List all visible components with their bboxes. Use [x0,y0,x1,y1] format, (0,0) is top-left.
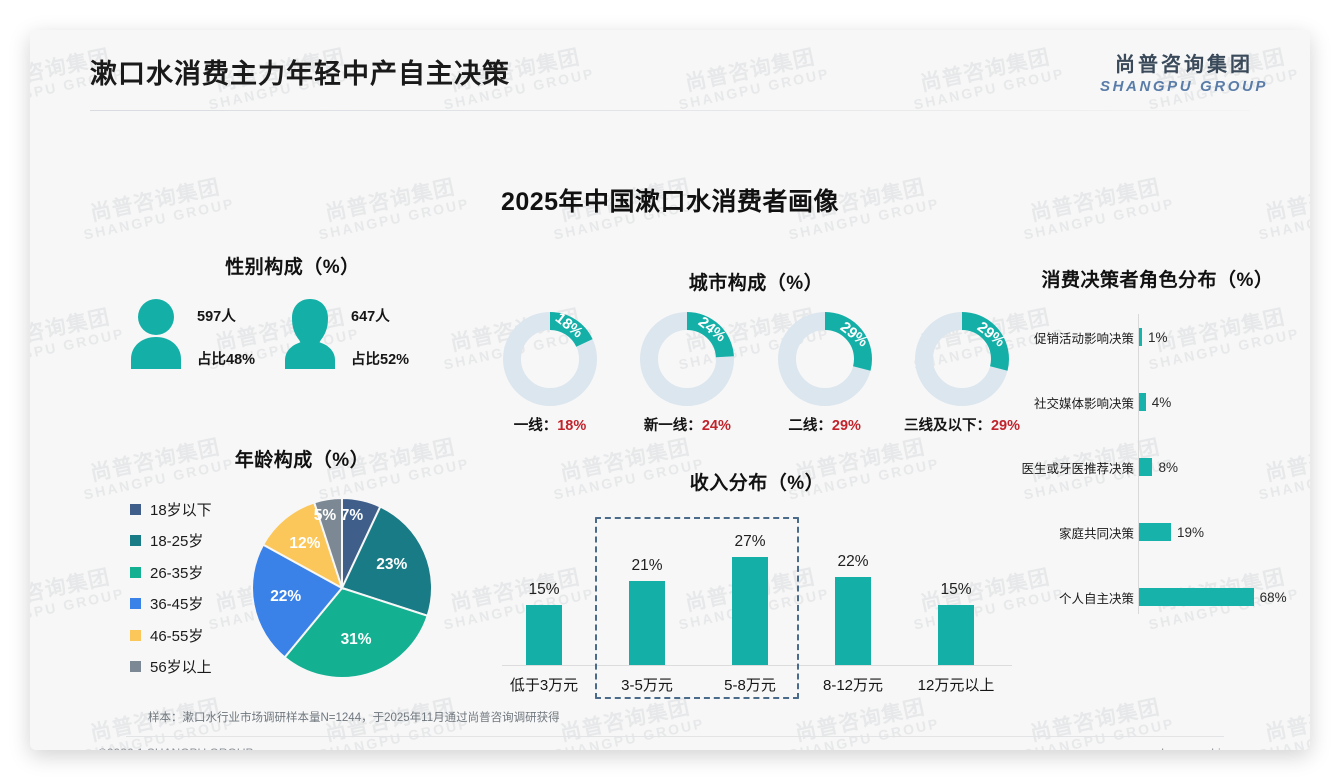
pie-value-label: 22% [270,588,301,606]
slide-canvas: 尚普咨询集团SHANGPU GROUP尚普咨询集团SHANGPU GROUP尚普… [30,30,1310,750]
watermark: 尚普咨询集团SHANGPU GROUP [1018,694,1176,750]
income-category-label: 3-5万元 [599,674,695,695]
income-bar-column: 22%8-12万元 [805,505,901,705]
source-footnote: 样本：漱口水行业市场调研样本量N=1244，于2025年11月通过尚普咨询调研获… [148,709,560,725]
city-section-title: 城市构成（%） [482,268,1030,295]
city-donut-3: 29%二线：29% [761,311,889,435]
age-legend-item: 46-55岁 [130,625,248,646]
female-icon [281,297,339,369]
legend-label: 36-45岁 [150,593,203,614]
male-share: 占比48% [197,348,255,369]
pie-value-label: 31% [341,631,372,649]
role-value-label: 1% [1148,330,1168,345]
role-value-label: 19% [1177,525,1204,540]
role-bar [1139,328,1142,346]
role-bar-row: 促销活动影响决策1% [1020,326,1295,348]
age-legend: 18岁以下18-25岁26-35岁36-45岁46-55岁56岁以上 [112,488,248,688]
role-bar-row: 个人自主决策68% [1020,586,1295,608]
income-category-label: 12万元以上 [908,674,1004,695]
legend-swatch [130,535,141,546]
chart-board-subtitle: 2025年中国漱口水消费者画像 [30,182,1310,218]
decision-role-section: 消费决策者角色分布（%） 促销活动影响决策1%社交媒体影响决策4%医生或牙医推荐… [1020,265,1295,614]
role-bar [1139,458,1152,476]
legend-label: 18岁以下 [150,499,212,520]
income-value-label: 27% [702,533,798,551]
role-category-label: 个人自主决策 [1020,588,1134,607]
footer-website[interactable]: www.shangpu-china.com [1127,746,1260,750]
income-bar-column: 15%12万元以上 [908,505,1004,705]
legend-swatch [130,567,141,578]
role-category-label: 家庭共同决策 [1020,523,1134,542]
legend-label: 56岁以上 [150,656,212,677]
watermark: 尚普咨询集团SHANGPU GROUP [1253,694,1310,750]
income-category-label: 5-8万元 [702,674,798,695]
donut-graphic: 29% [777,311,873,407]
legend-swatch [130,630,141,641]
donut-caption: 一线：18% [486,414,614,435]
gender-section-title: 性别构成（%） [105,252,480,279]
female-share: 占比52% [351,348,409,369]
age-legend-item: 26-35岁 [130,562,248,583]
income-category-label: 8-12万元 [805,674,901,695]
age-composition-section: 年龄构成（%） 18岁以下18-25岁26-35岁36-45岁46-55岁56岁… [112,445,492,688]
legend-swatch [130,504,141,515]
age-legend-item: 18-25岁 [130,530,248,551]
roles-bar-chart: 促销活动影响决策1%社交媒体影响决策4%医生或牙医推荐决策8%家庭共同决策19%… [1020,314,1295,614]
age-legend-item: 56岁以上 [130,656,248,677]
income-bar-column: 15%低于3万元 [496,505,592,705]
pie-value-label: 5% [314,507,336,525]
income-bar-column: 27%5-8万元 [702,505,798,705]
role-category-label: 医生或牙医推荐决策 [1020,458,1134,477]
pie-value-label: 23% [376,556,407,574]
role-bar [1139,588,1254,606]
male-count: 597人 [197,305,255,326]
gender-composition-section: 性别构成（%） 597人 占比48% 647人 占比5 [105,252,480,369]
pie-value-label: 7% [341,507,363,525]
legend-label: 18-25岁 [150,530,203,551]
donut-caption: 三线及以下：29% [898,414,1026,435]
footer-copyright: ©2026.1 SHANGPU GROUP [98,746,254,750]
income-bar [526,605,562,665]
income-bar [938,605,974,665]
income-bar [732,557,768,665]
gender-item-female: 647人 占比52% [281,297,409,369]
age-legend-item: 18岁以下 [130,499,248,520]
donut-caption: 新一线：24% [623,414,751,435]
role-bar [1139,523,1171,541]
age-pie-chart: 7%23%31%22%12%5% [248,494,436,682]
legend-label: 26-35岁 [150,562,203,583]
role-category-label: 促销活动影响决策 [1020,328,1134,347]
income-section-title: 收入分布（%） [492,468,1022,495]
role-value-label: 68% [1260,590,1287,605]
income-value-label: 22% [805,553,901,571]
header-divider [90,110,1250,111]
age-legend-item: 36-45岁 [130,593,248,614]
role-bar [1139,393,1146,411]
page-title: 漱口水消费主力年轻中产自主决策 [90,52,510,91]
brand-logo: 尚普咨询集团 SHANGPU GROUP [1100,48,1268,95]
legend-label: 46-55岁 [150,625,203,646]
legend-swatch [130,661,141,672]
role-bar-row: 社交媒体影响决策4% [1020,391,1295,413]
pie-value-label: 12% [289,535,320,553]
female-count: 647人 [351,305,409,326]
gender-item-male: 597人 占比48% [127,297,255,369]
income-value-label: 21% [599,557,695,575]
donut-graphic: 29% [914,311,1010,407]
role-category-label: 社交媒体影响决策 [1020,393,1134,412]
income-category-label: 低于3万元 [496,674,592,695]
income-bar [835,577,871,665]
footer-divider [126,736,1224,737]
role-bar-row: 医生或牙医推荐决策8% [1020,456,1295,478]
city-donut-1: 18%一线：18% [486,311,614,435]
logo-english-text: SHANGPU GROUP [1100,78,1268,95]
role-value-label: 8% [1158,460,1178,475]
donut-graphic: 24% [639,311,735,407]
role-bar-row: 家庭共同决策19% [1020,521,1295,543]
roles-section-title: 消费决策者角色分布（%） [1020,265,1295,292]
income-value-label: 15% [496,581,592,599]
income-bar [629,581,665,665]
donut-graphic: 18% [502,311,598,407]
male-icon [127,297,185,369]
slide-header: 漱口水消费主力年轻中产自主决策 尚普咨询集团 SHANGPU GROUP [30,30,1310,110]
income-bar-column: 21%3-5万元 [599,505,695,705]
city-donut-row: 18%一线：18%24%新一线：24%29%二线：29%29%三线及以下：29% [482,311,1030,435]
city-donut-4: 29%三线及以下：29% [898,311,1026,435]
income-bar-chart: 15%低于3万元21%3-5万元27%5-8万元22%8-12万元15%12万元… [492,505,1022,705]
role-value-label: 4% [1152,395,1172,410]
donut-caption: 二线：29% [761,414,889,435]
city-donut-2: 24%新一线：24% [623,311,751,435]
legend-swatch [130,598,141,609]
city-composition-section: 城市构成（%） 18%一线：18%24%新一线：24%29%二线：29%29%三… [482,268,1030,435]
income-value-label: 15% [908,581,1004,599]
logo-chinese-text: 尚普咨询集团 [1100,48,1268,77]
income-distribution-section: 收入分布（%） 15%低于3万元21%3-5万元27%5-8万元22%8-12万… [492,468,1022,705]
age-section-title: 年龄构成（%） [112,445,492,472]
